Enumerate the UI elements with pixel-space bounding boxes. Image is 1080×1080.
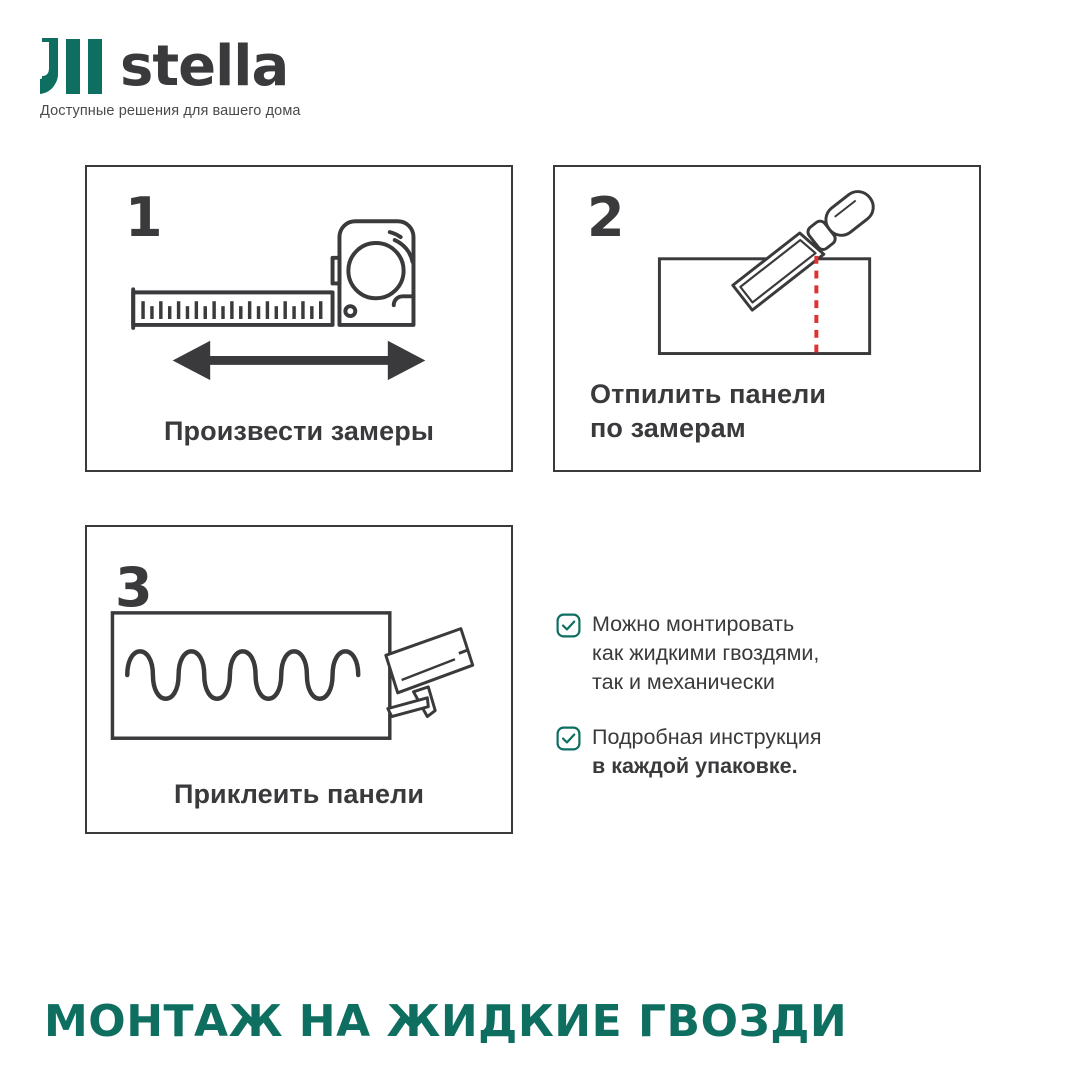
brand-logo: stella Доступные решения для вашего дома (40, 38, 460, 133)
logo-tagline: Доступные решения для вашего дома (40, 102, 460, 120)
check-square-icon (556, 613, 581, 638)
feature-bullet-list: Можно монтировать как жидкими гвоздями, … (556, 610, 956, 807)
bullet-1-line-2: как жидкими гвоздями, (592, 639, 819, 668)
step-number-3: 3 (115, 561, 153, 615)
bullet-1-line-3: так и механически (592, 668, 819, 697)
step-card-2: 2 Отпилить панели по замерам (553, 165, 981, 472)
bullet-2-line-1: Подробная инструкция (592, 723, 821, 752)
stella-logo-mark-icon (40, 38, 108, 96)
list-item: Можно монтировать как жидкими гвоздями, … (556, 610, 956, 697)
wavy-adhesive-bead (127, 651, 358, 698)
step-number-2: 2 (587, 191, 625, 245)
list-item-text: Можно монтировать как жидкими гвоздями, … (592, 610, 819, 697)
logo-row: stella (40, 38, 460, 96)
step-card-1: 1 (85, 165, 513, 472)
caulking-gun-icon (386, 629, 473, 717)
hand-saw-icon (733, 186, 880, 311)
step-card-3: 3 Приклеить панели (85, 525, 513, 834)
step-caption-1: Произвести замеры (87, 414, 511, 448)
step-caption-3: Приклеить панели (87, 777, 511, 811)
step-caption-2-line2: по замерам (590, 411, 826, 445)
step-number-1: 1 (125, 191, 163, 245)
list-item-text: Подробная инструкция в каждой упаковке. (592, 723, 821, 781)
list-item: Подробная инструкция в каждой упаковке. (556, 723, 956, 781)
double-headed-arrow-icon (173, 341, 426, 380)
check-square-icon (556, 726, 581, 751)
step-caption-2: Отпилить панели по замерам (590, 377, 826, 445)
logo-wordmark: stella (120, 38, 288, 96)
panel-rectangle (112, 613, 389, 738)
step-caption-2-line1: Отпилить панели (590, 377, 826, 411)
bullet-1-line-1: Можно монтировать (592, 610, 819, 639)
bullet-2-line-2: в каждой упаковке. (592, 752, 821, 781)
page-title: МОНТАЖ НА ЖИДКИЕ ГВОЗДИ (44, 996, 847, 1048)
panel-rectangle (659, 259, 869, 354)
